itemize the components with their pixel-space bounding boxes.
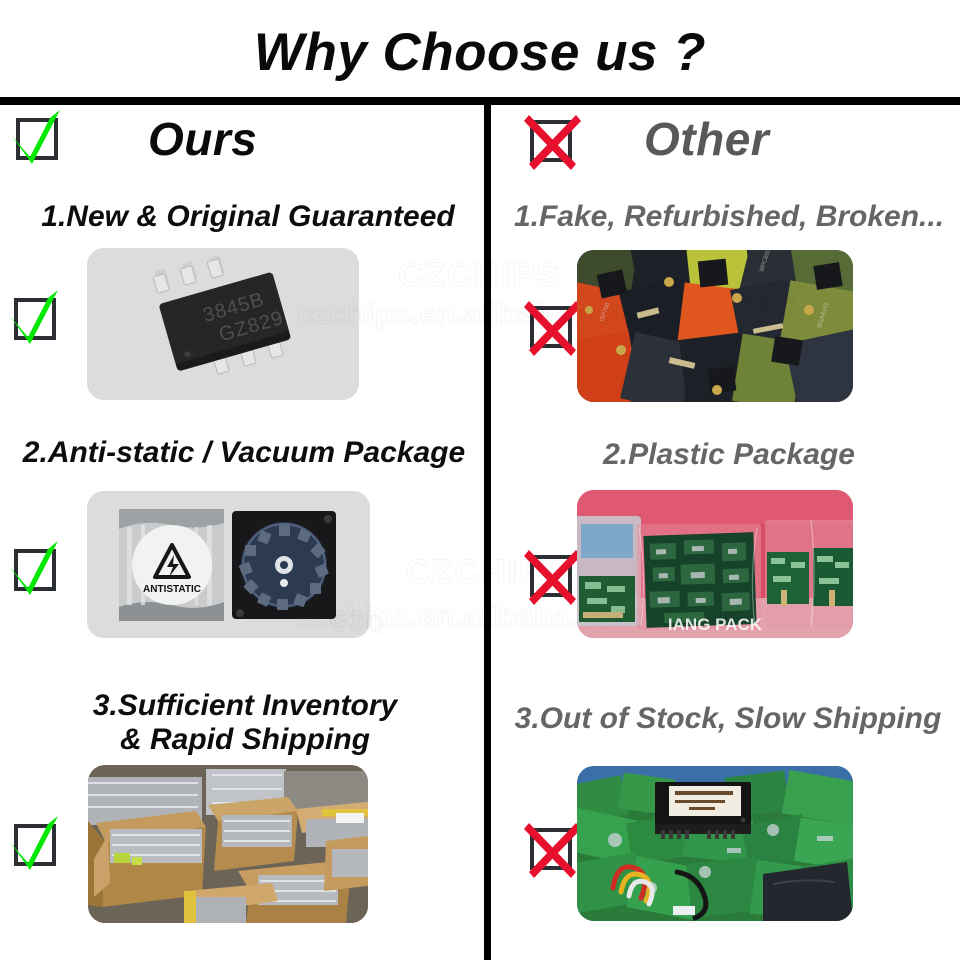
row-3-ours-heading: 3.Sufficient Inventory & Rapid Shipping: [20, 689, 470, 756]
cross-icon: [524, 112, 582, 170]
check-icon: [8, 290, 66, 348]
row-3-ours-heading-line1: 3.Sufficient Inventory: [20, 689, 470, 723]
column-header-ours-label: Ours: [148, 112, 257, 166]
check-glyph: [8, 816, 66, 874]
antistatic-vacuum-package-photo: ANTISTATIC: [87, 491, 370, 638]
cardboard-boxes-illustration: [88, 765, 368, 923]
cross-glyph: [524, 547, 582, 605]
header-divider: [0, 97, 960, 105]
cross-icon: [524, 820, 582, 878]
watermark-brand: CZCHIPS: [398, 256, 561, 295]
cross-icon: [524, 298, 582, 356]
row-1-other-heading: 1.Fake, Refurbished, Broken...: [500, 200, 958, 234]
check-glyph: [8, 541, 66, 599]
cross-icon: [524, 547, 582, 605]
check-glyph: [10, 110, 68, 168]
column-header-ours: Ours: [0, 108, 484, 170]
pink-plastic-bags-illustration: IANG PACK: [577, 490, 853, 638]
column-divider: [484, 105, 491, 960]
cross-glyph: [524, 820, 582, 878]
cross-glyph: [524, 298, 582, 356]
pcb-scrap-pile-photo: [577, 766, 853, 921]
check-glyph: [8, 290, 66, 348]
salvaged-chips-photo: MPC860 BGA4181 ISP760: [577, 250, 853, 402]
check-icon: [10, 110, 68, 168]
page-title: Why Choose us ?: [0, 22, 960, 83]
chip-illustration: 3845B GZ829: [87, 248, 359, 400]
row-2-other-heading: 2.Plastic Package: [500, 438, 958, 472]
row-3-other-heading: 3.Out of Stock, Slow Shipping: [498, 702, 958, 736]
bag-print-text: IANG PACK: [668, 615, 763, 634]
cross-glyph: [524, 112, 582, 170]
column-header-other-label: Other: [644, 112, 769, 166]
check-icon: [8, 816, 66, 874]
plastic-package-photo: IANG PACK: [577, 490, 853, 638]
row-2-ours-heading: 2.Anti-static / Vacuum Package: [10, 436, 478, 470]
new-original-chip-photo: 3845B GZ829: [87, 248, 359, 400]
pcb-scrap-illustration: [577, 766, 853, 921]
row-3-ours-heading-line2: & Rapid Shipping: [20, 723, 470, 757]
inventory-boxes-photo: [88, 765, 368, 923]
why-choose-us-comparison: Why Choose us ? Ours Other: [0, 0, 960, 960]
row-1-ours-heading: 1.New & Original Guaranteed: [18, 200, 478, 234]
fake-refurbished-chips-illustration: MPC860 BGA4181 ISP760: [577, 250, 853, 402]
antistatic-bag-and-reel-illustration: ANTISTATIC: [87, 491, 370, 638]
svg-text:ANTISTATIC: ANTISTATIC: [143, 584, 201, 595]
check-icon: [8, 541, 66, 599]
